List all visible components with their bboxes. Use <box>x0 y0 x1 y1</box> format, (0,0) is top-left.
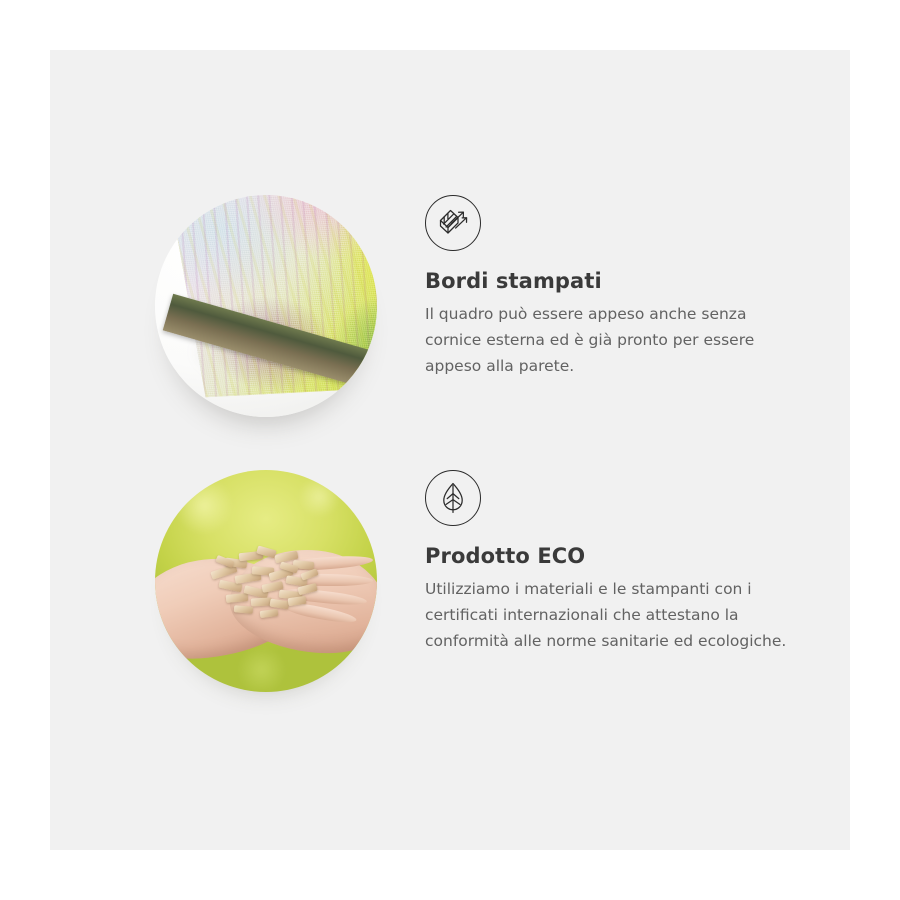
product-feature-infographic: Bordi stampati Il quadro può essere appe… <box>0 0 900 900</box>
wood-chip <box>300 568 318 580</box>
feature-copy-printed-edges: Bordi stampati Il quadro può essere appe… <box>425 195 817 379</box>
leaf-icon <box>425 470 481 526</box>
wood-chip <box>251 598 272 607</box>
feature-description: Utilizziamo i materiali e le stampanti c… <box>425 576 795 654</box>
canvas-print-scene <box>155 195 377 417</box>
feature-image-eco-product <box>155 470 377 692</box>
feature-description: Il quadro può essere appeso anche senza … <box>425 301 795 379</box>
wood-chips-pile <box>208 545 337 620</box>
feature-image-printed-edges <box>155 195 377 417</box>
content-panel: Bordi stampati Il quadro può essere appe… <box>50 50 850 850</box>
wood-chip <box>210 564 237 580</box>
leaf-glyph <box>436 481 470 515</box>
wood-chip <box>215 554 234 567</box>
circular-photo-wood-chips <box>155 470 377 692</box>
feature-title: Bordi stampati <box>425 269 817 294</box>
feature-title: Prodotto ECO <box>425 544 817 569</box>
feature-copy-eco-product: Prodotto ECO Utilizziamo i materiali e l… <box>425 470 817 654</box>
circular-photo-canvas-print <box>155 195 377 417</box>
wrapped-canvas-edges-glyph <box>436 206 470 240</box>
wood-chip <box>259 609 278 618</box>
wood-chip <box>234 605 254 613</box>
wood-chips-scene <box>155 470 377 692</box>
wood-chip <box>288 596 307 606</box>
wrapped-canvas-edges-icon <box>425 195 481 251</box>
wood-chip <box>226 593 248 602</box>
